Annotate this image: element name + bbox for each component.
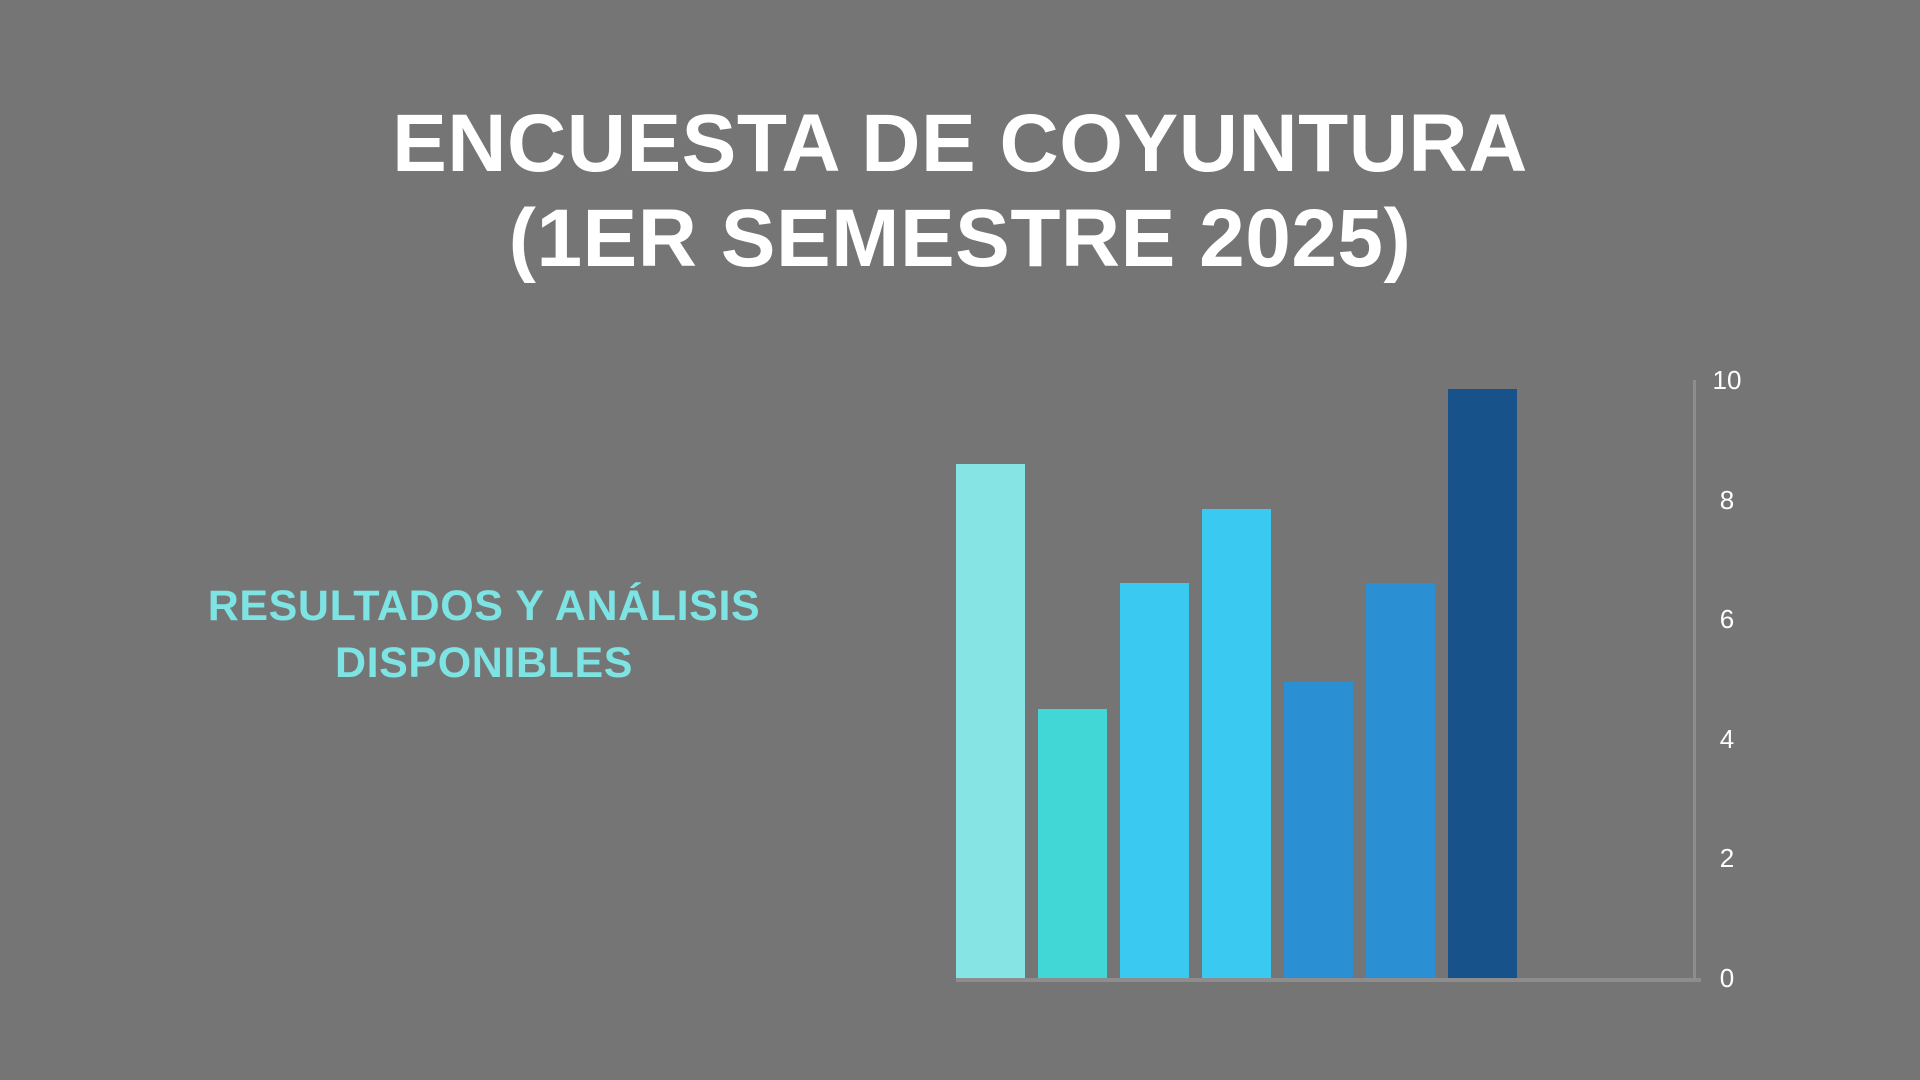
page-title: ENCUESTA DE COYUNTURA (1ER SEMESTRE 2025… [0,96,1920,286]
chart-bar [1448,389,1517,978]
title-line-2: (1ER SEMESTRE 2025) [0,191,1920,286]
chart-bar [1120,583,1189,978]
bar-chart: 1086420 [826,380,1586,980]
chart-bars [956,380,1566,978]
presentation-slide: ENCUESTA DE COYUNTURA (1ER SEMESTRE 2025… [0,0,1920,1080]
chart-plot-area: 1086420 [956,380,1566,978]
subtitle-line-2: DISPONIBLES [64,635,904,692]
slide-subtitle: RESULTADOS Y ANÁLISIS DISPONIBLES [64,578,904,692]
chart-y-tick-label: 0 [1704,965,1750,991]
chart-y-tick-label: 2 [1704,845,1750,871]
subtitle-line-1: RESULTADOS Y ANÁLISIS [64,578,904,635]
chart-bar [1284,682,1353,978]
chart-y-tick-label: 8 [1704,487,1750,513]
chart-y-tick-labels: 1086420 [1704,380,1764,978]
chart-bar [1038,709,1107,978]
chart-x-axis-line [956,978,1701,982]
chart-y-tick-label: 4 [1704,726,1750,752]
chart-y-axis-line [1693,380,1696,980]
chart-y-tick-label: 10 [1704,367,1750,393]
chart-bar [956,464,1025,978]
chart-bar [1366,583,1435,978]
title-line-1: ENCUESTA DE COYUNTURA [0,96,1920,191]
chart-y-tick-label: 6 [1704,606,1750,632]
chart-bar [1202,509,1271,978]
